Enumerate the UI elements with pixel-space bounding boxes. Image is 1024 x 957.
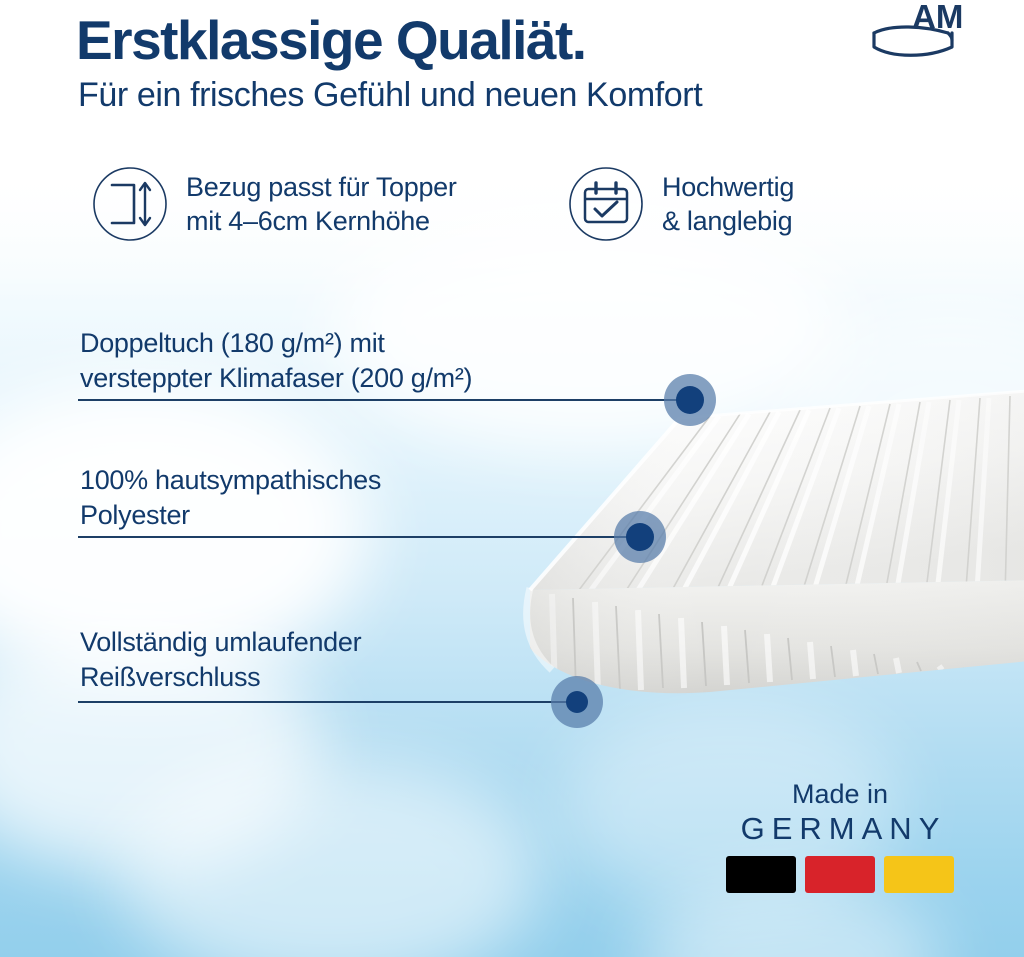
brand-logo: AM xyxy=(862,2,972,64)
mattress-height-arrow-icon xyxy=(92,166,168,242)
made-in-label: Made in xyxy=(700,778,980,810)
flag-block-black xyxy=(726,856,796,893)
feature-label: Hochwertig & langlebig xyxy=(662,170,794,238)
callout-material: 100% hautsympathisches Polyester xyxy=(80,463,381,533)
logo-text: AM xyxy=(912,2,963,35)
country-label: GERMANY xyxy=(700,810,980,848)
german-flag xyxy=(700,856,980,893)
callout-zipper: Vollständig umlaufender Reißverschluss xyxy=(80,625,361,695)
calendar-check-icon xyxy=(568,166,644,242)
callout-label: Vollständig umlaufender Reißverschluss xyxy=(80,625,361,695)
flag-block-red xyxy=(805,856,875,893)
callout-leader-line xyxy=(78,701,579,703)
page-subtitle: Für ein frisches Gefühl und neuen Komfor… xyxy=(78,76,702,115)
made-in-germany-badge: Made in GERMANY xyxy=(700,778,980,893)
callout-leader-line xyxy=(78,399,692,401)
callout-label: 100% hautsympathisches Polyester xyxy=(80,463,381,533)
feature-badge-topper-height: Bezug passt für Topper mit 4–6cm Kernhöh… xyxy=(92,166,457,242)
callout-marker-dot[interactable] xyxy=(614,511,666,563)
feature-label: Bezug passt für Topper mit 4–6cm Kernhöh… xyxy=(186,170,457,238)
feature-badge-durability: Hochwertig & langlebig xyxy=(568,166,794,242)
page-title: Erstklassige Qualiät. xyxy=(76,8,586,72)
callout-fabric: Doppeltuch (180 g/m²) mit versteppter Kl… xyxy=(80,326,472,396)
callout-leader-line xyxy=(78,536,642,538)
callout-marker-dot[interactable] xyxy=(664,374,716,426)
flag-block-gold xyxy=(884,856,954,893)
callout-marker-dot[interactable] xyxy=(551,676,603,728)
infographic-canvas: Erstklassige Qualiät. Für ein frisches G… xyxy=(0,0,1024,957)
callout-label: Doppeltuch (180 g/m²) mit versteppter Kl… xyxy=(80,326,472,396)
